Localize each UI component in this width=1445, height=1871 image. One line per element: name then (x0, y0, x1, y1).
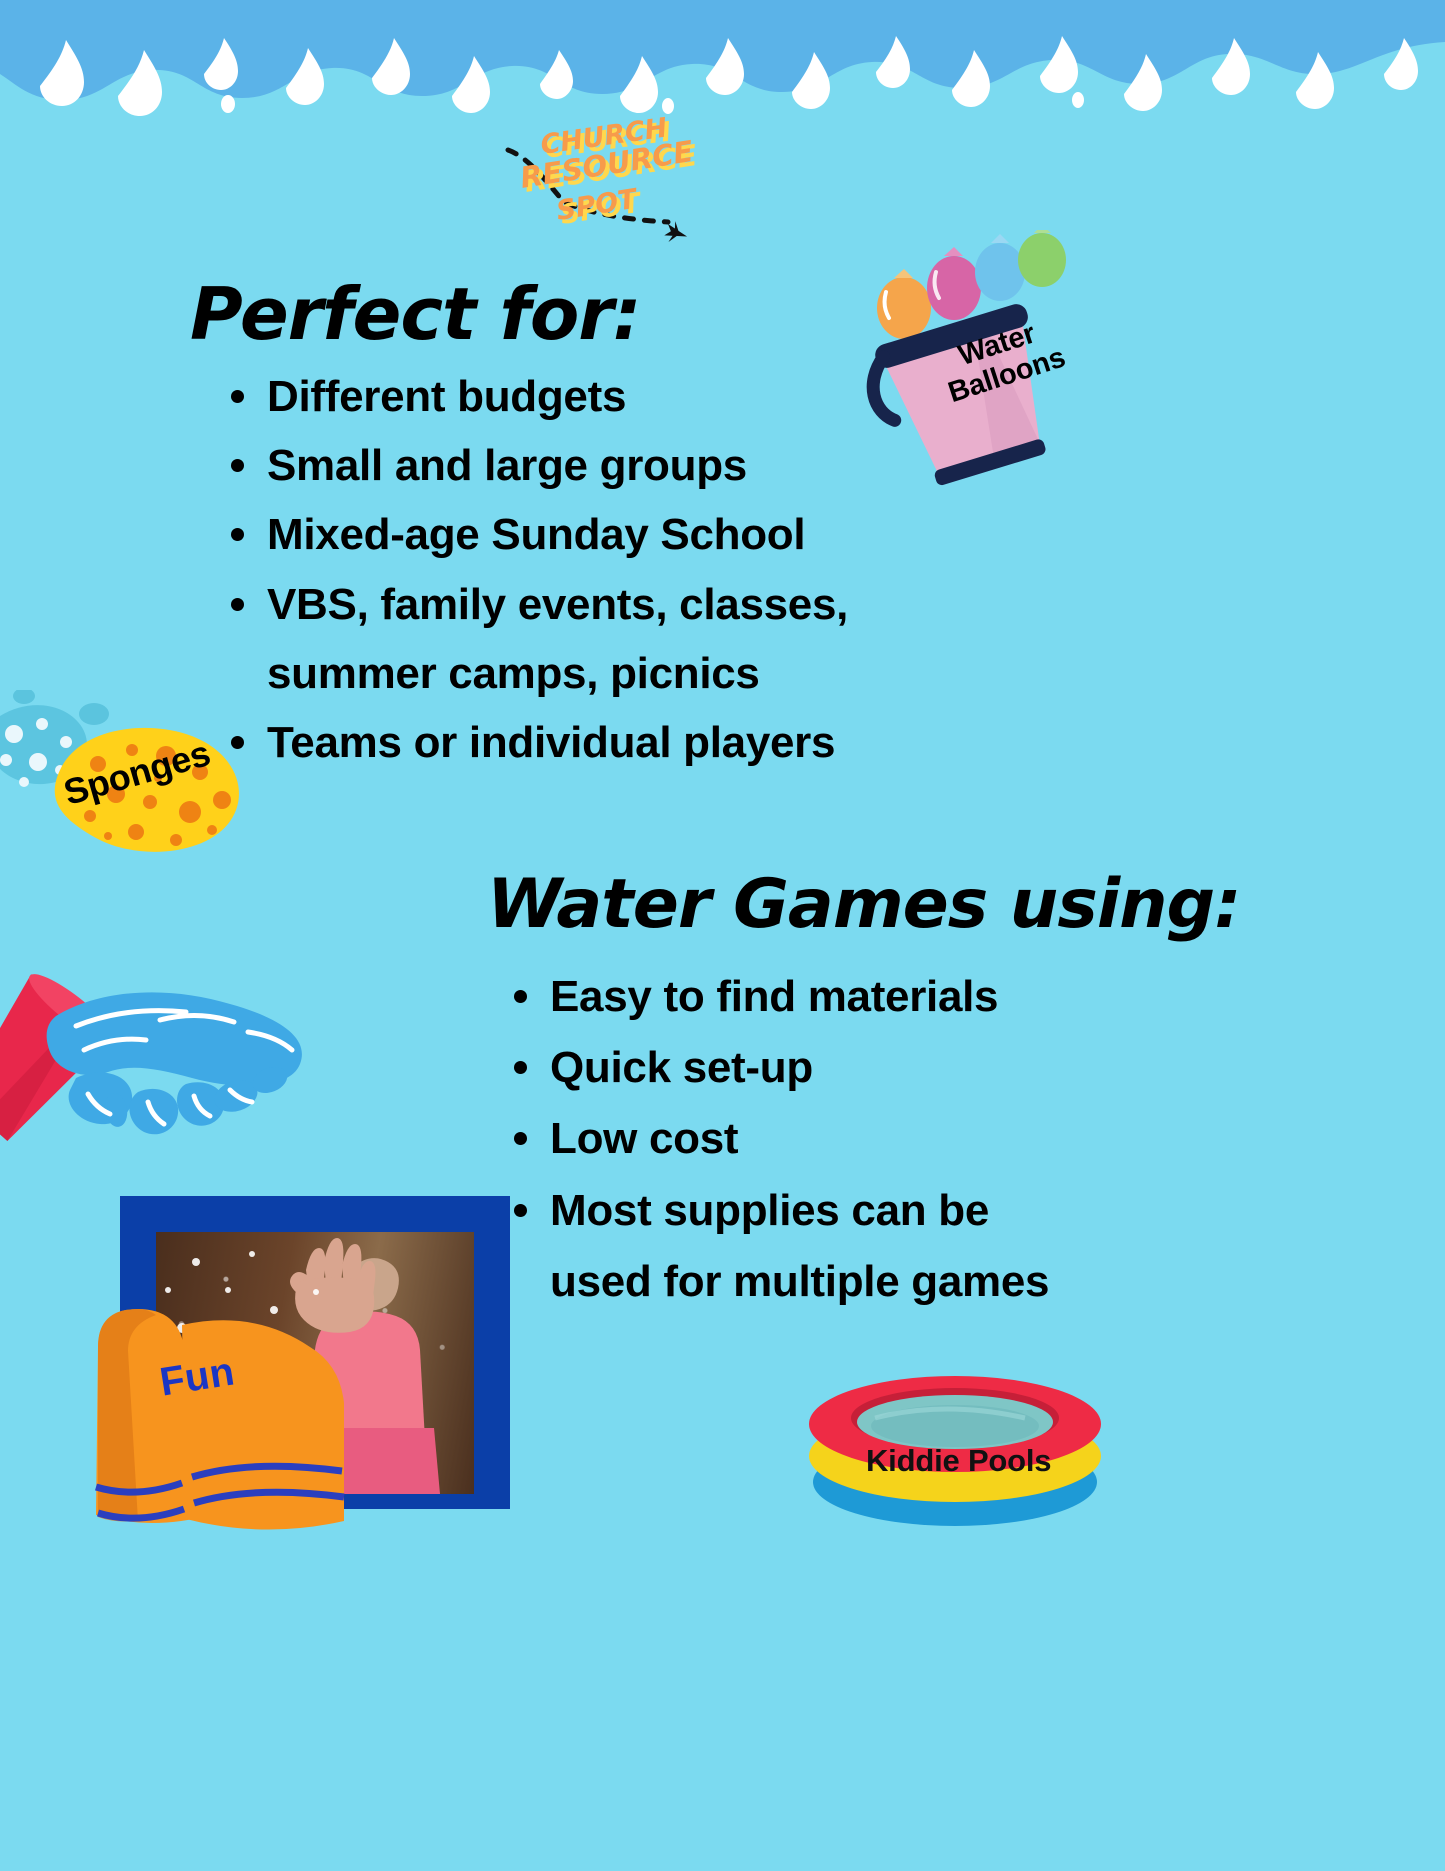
page-title-water-games: Water Games using: (487, 865, 1240, 944)
page-title-perfect-for: Perfect for: (190, 272, 641, 356)
kiddie-pools-label: Kiddie Pools (866, 1443, 1051, 1479)
list-item-continuation: summer camps, picnics (225, 645, 905, 702)
list-item-label: Low cost (550, 1114, 738, 1163)
list-item: Easy to find materials (508, 968, 1208, 1025)
list-item: Most supplies can be (508, 1182, 1208, 1239)
water-games-list: Easy to find materials Quick set-up Low … (508, 968, 1208, 1324)
list-item: Mixed-age Sunday School (225, 506, 905, 563)
list-item: Different budgets (225, 368, 905, 425)
list-item: VBS, family events, classes, (225, 576, 905, 633)
list-item-label: Most supplies can be (550, 1186, 989, 1235)
list-item-label: Easy to find materials (550, 972, 998, 1021)
water-splash (47, 992, 302, 1134)
list-item-label: Small and large groups (267, 441, 747, 490)
balloon-green (1018, 233, 1066, 287)
list-item: Quick set-up (508, 1039, 1208, 1096)
list-item-label: summer camps, picnics (267, 649, 760, 698)
towel-graphic (60, 1265, 420, 1565)
list-item: Low cost (508, 1110, 1208, 1167)
list-item-label: used for multiple games (550, 1257, 1049, 1306)
logo-wordmark: CHURCH CHURCH RESOURCE RESOURCE SPOT SPO… (518, 112, 700, 230)
list-item-label: Teams or individual players (267, 718, 835, 767)
list-item-label: VBS, family events, classes, (267, 580, 848, 629)
top-wave-decoration (0, 0, 1445, 135)
list-item-continuation: used for multiple games (508, 1253, 1208, 1310)
list-item: Teams or individual players (225, 714, 905, 771)
list-item-label: Different budgets (267, 372, 626, 421)
splashing-bucket-graphic (0, 960, 310, 1200)
poster-canvas: CHURCH CHURCH RESOURCE RESOURCE SPOT SPO… (0, 0, 1445, 1871)
brand-logo: CHURCH CHURCH RESOURCE RESOURCE SPOT SPO… (500, 128, 730, 268)
perfect-for-list: Different budgets Small and large groups… (225, 368, 905, 783)
list-item: Small and large groups (225, 437, 905, 494)
list-item-label: Mixed-age Sunday School (267, 510, 805, 559)
list-item-label: Quick set-up (550, 1043, 813, 1092)
balloon-blue (975, 243, 1025, 301)
